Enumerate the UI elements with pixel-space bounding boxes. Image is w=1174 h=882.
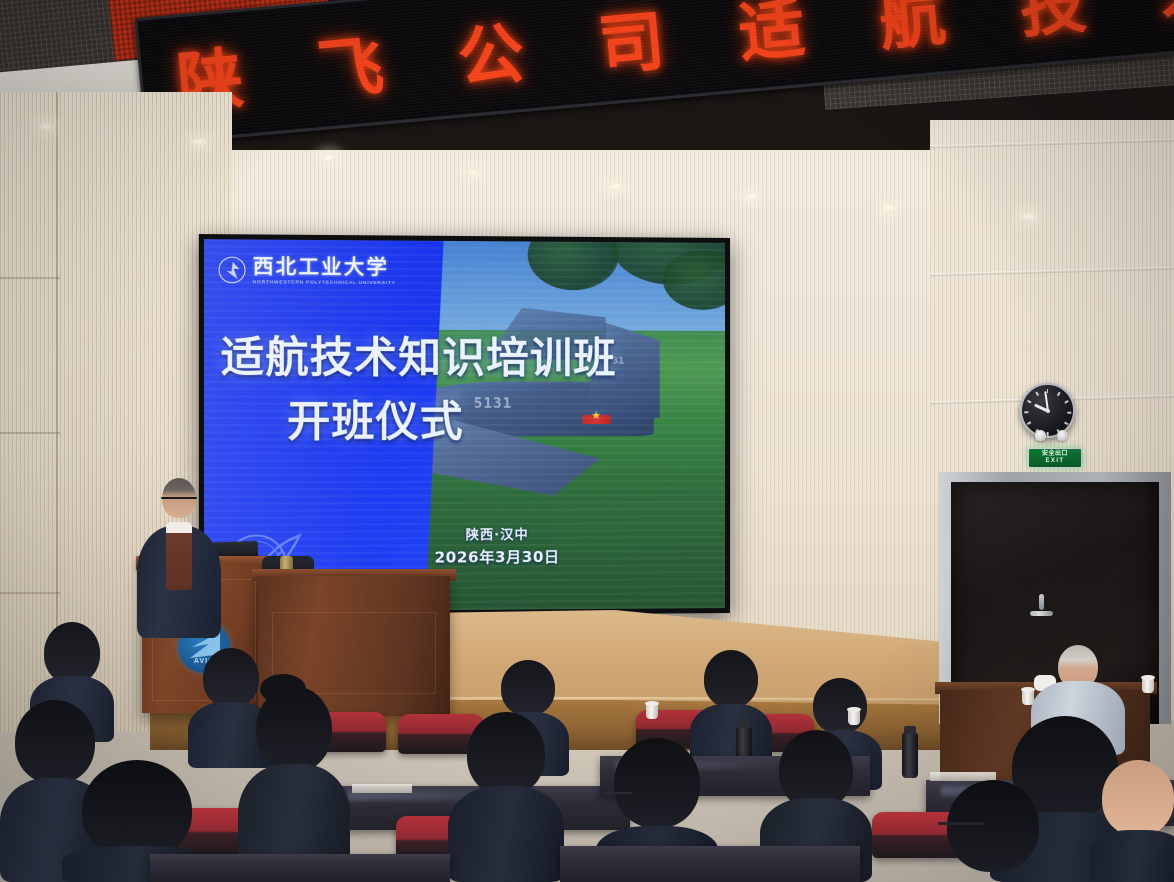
attendee xyxy=(448,712,564,882)
npu-seal-icon xyxy=(219,257,246,284)
attendee-uniform xyxy=(1090,830,1174,882)
hair-bun xyxy=(260,674,306,704)
door-handle-icon[interactable] xyxy=(1039,594,1044,610)
handout-paper xyxy=(352,784,412,793)
desk xyxy=(150,854,450,882)
attendee-head xyxy=(704,650,758,708)
attendee-head xyxy=(614,738,700,828)
ceiling-downlight xyxy=(465,168,483,177)
exit-sign-text-en: EXIT xyxy=(1046,457,1065,466)
attendee-head xyxy=(1102,760,1174,836)
ceiling-downlight xyxy=(742,192,760,201)
water-bottle xyxy=(902,732,918,778)
attendee-head xyxy=(44,622,100,684)
desk xyxy=(560,846,860,882)
tea-cup xyxy=(1022,690,1034,705)
ceiling-downlight xyxy=(320,153,338,162)
attendee-head xyxy=(82,760,192,860)
slide-location: 陕西·汉中 xyxy=(410,526,583,547)
slide-title-line2: 开班仪式 xyxy=(221,397,529,447)
tea-cup xyxy=(646,704,658,719)
exit-sign: 安全出口 EXIT xyxy=(1028,448,1082,468)
attendee-head xyxy=(501,660,555,716)
glasses-icon xyxy=(938,822,984,825)
slide-title: 适航技术知识培训班 开班仪式 xyxy=(221,333,700,447)
ceiling-downlight xyxy=(1020,212,1038,221)
ceiling-downlight xyxy=(190,137,208,146)
slide-date: 2026年3月30日 xyxy=(410,546,583,570)
university-name-en: NORTHWESTERN POLYTECHNICAL UNIVERSITY xyxy=(253,279,396,285)
attendee xyxy=(238,686,350,882)
attendee-head xyxy=(947,780,1039,872)
wall-clock xyxy=(1020,383,1075,438)
attendee-head xyxy=(467,712,545,796)
ceiling-downlight xyxy=(606,182,624,191)
tea-cup xyxy=(848,710,860,725)
door-lever-icon[interactable] xyxy=(1030,611,1053,616)
clock-center-pin xyxy=(1046,409,1050,413)
attendee-head xyxy=(813,678,867,734)
speaker-at-podium xyxy=(136,478,222,638)
slide-footer: 陕西·汉中 2026年3月30日 xyxy=(410,526,583,571)
attendee xyxy=(930,780,1056,882)
tea-cup xyxy=(1142,678,1154,693)
attendee-uniform xyxy=(448,786,564,882)
emergency-light-icon xyxy=(1035,430,1046,441)
university-logo: 西北工业大学 NORTHWESTERN POLYTECHNICAL UNIVER… xyxy=(219,256,396,286)
conference-hall-photo: 陕 飞 公 司 适 航 技 术 知 识 培 训 xyxy=(0,0,1174,882)
ceiling-downlight xyxy=(37,122,55,131)
ceiling-downlight xyxy=(880,203,898,212)
emergency-light-icon xyxy=(1057,430,1068,441)
slide-title-line1: 适航技术知识培训班 xyxy=(221,333,700,384)
speaker-sweater-shirt xyxy=(166,522,192,590)
attendee xyxy=(1090,760,1174,882)
glasses-icon xyxy=(161,497,197,499)
university-name-cn: 西北工业大学 xyxy=(253,256,396,277)
glasses-icon xyxy=(602,792,632,794)
